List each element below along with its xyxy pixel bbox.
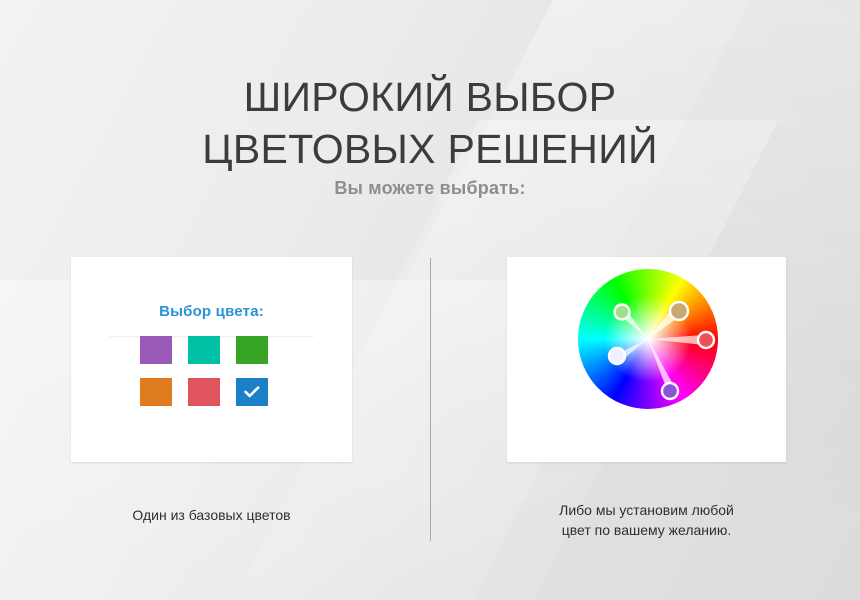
swatch-orange[interactable]: [140, 378, 172, 406]
slide-canvas: ШИРОКИЙ ВЫБОР ЦВЕТОВЫХ РЕШЕНИЙ Вы можете…: [0, 0, 860, 600]
swatch-grid: [140, 336, 284, 406]
check-icon: [244, 386, 260, 398]
page-subtitle: Вы можете выбрать:: [0, 178, 860, 199]
page-title: ШИРОКИЙ ВЫБОР ЦВЕТОВЫХ РЕШЕНИЙ: [0, 71, 860, 175]
wheel-handles[interactable]: [578, 269, 718, 409]
color-wheel-widget[interactable]: [507, 257, 786, 462]
color-picker-title: Выбор цвета:: [71, 303, 352, 320]
handle-khaki[interactable]: [670, 302, 688, 320]
handle-violet[interactable]: [662, 383, 678, 399]
handle-red[interactable]: [698, 332, 714, 348]
color-wheel-card: [507, 257, 786, 462]
handle-green[interactable]: [615, 305, 630, 320]
handle-pale[interactable]: [609, 348, 625, 364]
vertical-divider: [430, 258, 431, 541]
swatch-red[interactable]: [188, 378, 220, 406]
color-picker-card: Выбор цвета:: [71, 257, 352, 462]
swatch-purple[interactable]: [140, 336, 172, 364]
option-custom-color: Либо мы установим любой цвет по вашему ж…: [507, 257, 786, 462]
option-left-caption: Один из базовых цветов: [71, 505, 352, 525]
wheel-spokes: [617, 308, 704, 390]
option-right-caption: Либо мы установим любой цвет по вашему ж…: [507, 500, 786, 540]
swatch-green[interactable]: [236, 336, 268, 364]
option-base-colors: Выбор цвета: Один: [71, 257, 352, 462]
swatch-teal[interactable]: [188, 336, 220, 364]
swatch-blue-selected[interactable]: [236, 378, 268, 406]
spoke-red: [648, 335, 704, 345]
